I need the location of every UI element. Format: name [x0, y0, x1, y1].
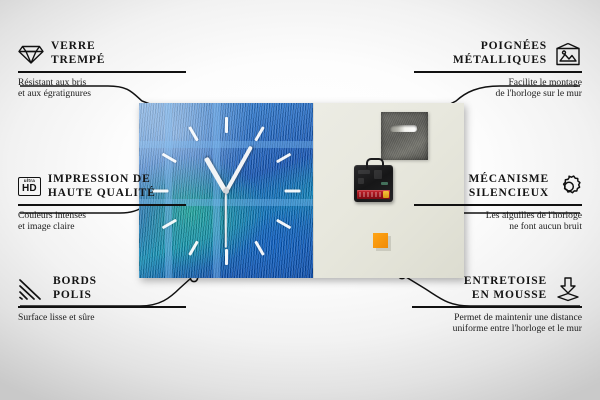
clock-tick [284, 190, 300, 193]
feature-divider [18, 204, 186, 206]
metal-hanger-plate [381, 112, 428, 160]
diagonal-lines-icon [18, 278, 46, 300]
feature-heading: POIGNÉES MÉTALLIQUES [414, 40, 582, 67]
feature-heading: VERRE TREMPÉ [18, 40, 186, 67]
feature-title: POIGNÉES MÉTALLIQUES [453, 40, 547, 67]
feature-heading: BORDS POLIS [18, 275, 186, 302]
feature-title: IMPRESSION DE HAUTE QUALITÉ [48, 173, 156, 200]
ultra-hd-large-label: HD [22, 184, 37, 194]
pattern-grid-line [139, 141, 313, 148]
clock-tick [188, 240, 199, 255]
clock-tick [254, 240, 265, 255]
pattern-grid-line [213, 103, 220, 278]
clock-minute-hand [224, 146, 253, 193]
movement-hanger-loop [366, 158, 384, 169]
feature-heading: ultra HD IMPRESSION DE HAUTE QUALITÉ [18, 173, 186, 200]
feature-description: Couleurs intenses et image claire [18, 210, 186, 233]
feature-title: MÉCANISME SILENCIEUX [469, 173, 550, 200]
feature-description: Facilite le montage de l'horloge sur le … [414, 77, 582, 100]
feature-divider [18, 71, 186, 73]
movement-detail [358, 170, 370, 174]
battery-terminal [383, 191, 389, 198]
feature-description: Permet de maintenir une distance uniform… [412, 312, 582, 335]
diamond-icon [18, 43, 44, 65]
clock-movement [354, 165, 393, 202]
movement-battery [357, 190, 390, 199]
feature-divider [412, 306, 582, 308]
feature-description: Les aiguilles de l'horloge ne font aucun… [414, 210, 582, 233]
feature-verre-trempe: VERRE TREMPÉ Résistant aux bris et aux é… [18, 40, 186, 100]
ultra-hd-icon: ultra HD [18, 177, 41, 196]
feature-heading: ENTRETOISE EN MOUSSE [412, 275, 582, 302]
feature-title: VERRE TREMPÉ [51, 40, 105, 67]
feature-divider [414, 71, 582, 73]
clock-tick [275, 153, 290, 164]
movement-detail [374, 170, 382, 179]
clock-pivot [224, 189, 229, 194]
clock-tick [254, 126, 265, 141]
feature-impression-haute-qualite: ultra HD IMPRESSION DE HAUTE QUALITÉ Cou… [18, 173, 186, 233]
clock-tick [225, 249, 228, 265]
movement-detail [358, 178, 364, 184]
feature-divider [414, 204, 582, 206]
clock-tick [275, 219, 290, 230]
feature-heading: MÉCANISME SILENCIEUX [414, 173, 582, 200]
battery-label [359, 192, 382, 197]
picture-frame-hanger-icon [554, 42, 582, 66]
infographic-canvas: VERRE TREMPÉ Résistant aux bris et aux é… [0, 0, 600, 400]
feature-entretoise-en-mousse: ENTRETOISE EN MOUSSE Permet de maintenir… [412, 275, 582, 335]
feature-title: ENTRETOISE EN MOUSSE [464, 275, 547, 302]
movement-detail [381, 182, 388, 185]
foam-spacer [373, 233, 388, 248]
feature-bords-polis: BORDS POLIS Surface lisse et sûre [18, 275, 186, 323]
feature-description: Surface lisse et sûre [18, 312, 186, 324]
clock-tick [225, 117, 228, 133]
feature-poignees-metalliques: POIGNÉES MÉTALLIQUES Facilite le montage… [414, 40, 582, 100]
feature-mecanisme-silencieux: MÉCANISME SILENCIEUX Les aiguilles de l'… [414, 173, 582, 233]
feature-description: Résistant aux bris et aux égratignures [18, 77, 186, 100]
feature-divider [18, 306, 186, 308]
hanger-slot [390, 125, 417, 132]
gear-icon [556, 174, 582, 200]
clock-second-hand [225, 191, 227, 247]
clock-tick [188, 126, 199, 141]
feature-title: BORDS POLIS [53, 275, 97, 302]
down-arrow-spacer-icon [554, 276, 582, 302]
